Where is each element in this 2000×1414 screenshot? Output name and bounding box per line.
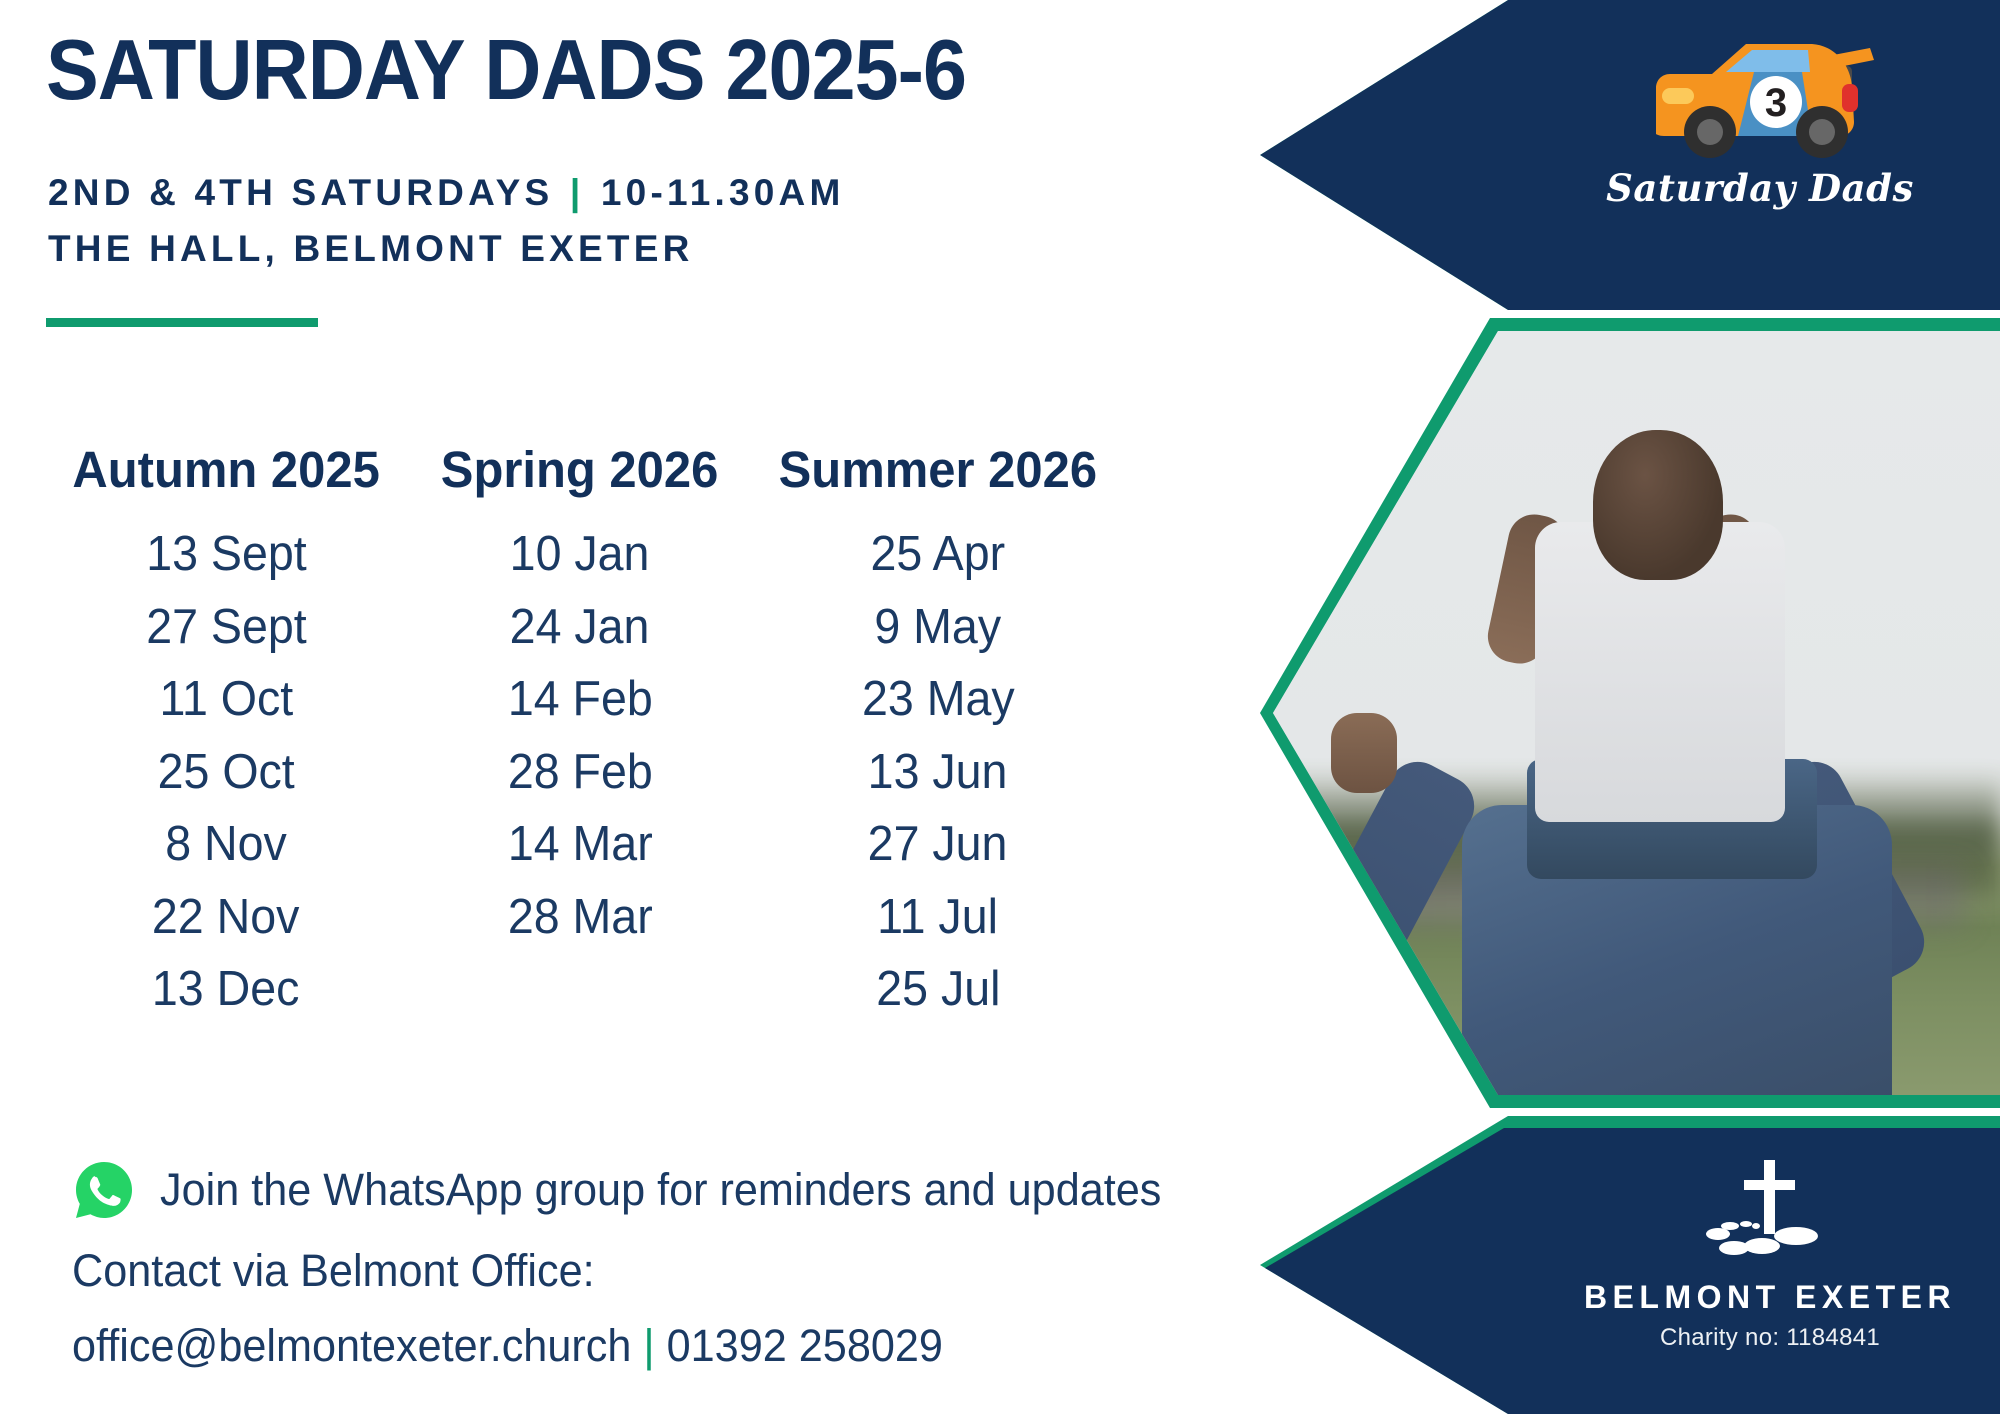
schedule-column-spring: Spring 2026 10 Jan 24 Jan 14 Feb 28 Feb … (410, 440, 760, 1026)
schedule-column-summer: Summer 2026 25 Apr 9 May 23 May 13 Jun 2… (760, 440, 1110, 1026)
date-item: 27 Jun (868, 808, 1008, 881)
date-item: 10 Jan (510, 518, 650, 591)
subtitle-block: 2ND & 4TH SATURDAYS | 10-11.30AM THE HAL… (48, 165, 844, 277)
date-item: 25 Oct (157, 736, 294, 809)
car-logo-caption: Saturday Dads (1560, 166, 1960, 210)
column-heading: Autumn 2025 (72, 440, 379, 499)
church-name-label: BELMONT EXETER (1560, 1279, 1980, 1316)
column-heading: Summer 2026 (779, 440, 1097, 499)
date-item: 8 Nov (165, 808, 287, 881)
cross-with-stones-icon (1700, 1251, 1840, 1268)
date-item: 25 Jul (876, 953, 1000, 1026)
subtitle-time: 10-11.30AM (601, 172, 845, 213)
date-item: 13 Jun (868, 736, 1008, 809)
photo-dad-fist (1331, 713, 1397, 793)
contact-separator: | (643, 1320, 654, 1371)
date-item: 28 Mar (508, 881, 653, 954)
subtitle-line-1: 2ND & 4TH SATURDAYS | 10-11.30AM (48, 165, 844, 221)
left-content-panel: SATURDAY DADS 2025-6 2ND & 4TH SATURDAYS… (0, 0, 1340, 1414)
subtitle-divider: | (568, 172, 587, 213)
chevron-panel-photo (1260, 318, 2000, 1108)
office-phone[interactable]: 01392 258029 (667, 1320, 943, 1371)
subtitle-venue: THE HALL, BELMONT EXETER (48, 221, 844, 277)
green-rule-divider (46, 318, 318, 327)
office-contact-label: Contact via Belmont Office: (72, 1245, 595, 1297)
date-item: 14 Feb (508, 663, 653, 736)
whatsapp-text: Join the WhatsApp group for reminders an… (160, 1164, 1161, 1216)
date-item: 23 May (862, 663, 1015, 736)
date-item: 27 Sept (146, 591, 306, 664)
charity-number-label: Charity no: 1184841 (1560, 1324, 1980, 1352)
date-item: 24 Jan (510, 591, 650, 664)
date-item: 28 Feb (508, 736, 653, 809)
car-number-label: 3 (1765, 81, 1787, 125)
date-item: 9 May (875, 591, 1002, 664)
whatsapp-icon (72, 1158, 136, 1222)
date-item: 22 Nov (152, 881, 300, 954)
date-item: 13 Sept (146, 518, 306, 591)
race-car-icon: 3 (1560, 26, 1960, 164)
office-email[interactable]: office@belmontexeter.church (72, 1320, 631, 1371)
saturday-dads-logo: 3 Saturday Dads (1560, 26, 1960, 210)
chevron-panel-church: BELMONT EXETER Charity no: 1184841 (1260, 1116, 2000, 1414)
photo-frame (1273, 331, 2000, 1095)
contact-details-line: office@belmontexeter.church | 01392 2580… (72, 1320, 943, 1372)
whatsapp-row: Join the WhatsApp group for reminders an… (72, 1158, 1203, 1222)
subtitle-days: 2ND & 4TH SATURDAYS (48, 172, 553, 213)
date-item: 13 Dec (152, 953, 300, 1026)
date-item: 25 Apr (871, 518, 1006, 591)
photo-child-head (1593, 430, 1723, 580)
schedule-table: Autumn 2025 13 Sept 27 Sept 11 Oct 25 Oc… (60, 440, 1190, 1026)
date-item: 11 Oct (159, 663, 293, 736)
date-item: 11 Jul (878, 881, 999, 954)
schedule-column-autumn: Autumn 2025 13 Sept 27 Sept 11 Oct 25 Oc… (60, 440, 410, 1026)
page-title: SATURDAY DADS 2025-6 (46, 28, 966, 113)
date-item: 14 Mar (508, 808, 653, 881)
chevron-panel-logo: 3 Saturday Dads (1260, 0, 2000, 310)
belmont-exeter-logo: BELMONT EXETER Charity no: 1184841 (1560, 1156, 1980, 1352)
column-heading: Spring 2026 (441, 440, 719, 499)
right-chevron-stack: 3 Saturday Dads (1260, 0, 2000, 1414)
father-and-child-photo (1273, 331, 2000, 1095)
